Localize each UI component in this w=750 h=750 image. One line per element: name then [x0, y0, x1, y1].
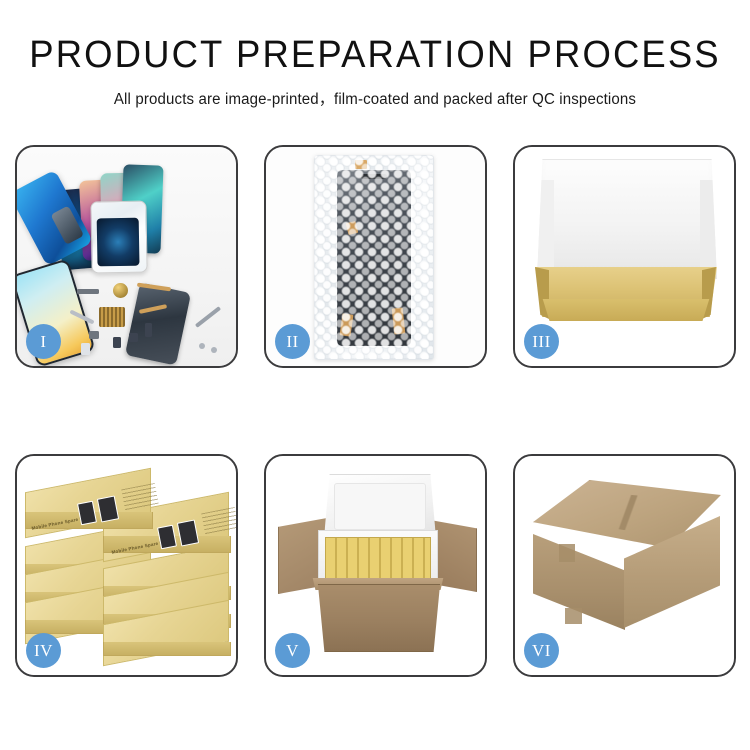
part-sim-tray — [81, 343, 90, 355]
step-2-image: II — [266, 147, 485, 366]
part-square-1 — [129, 333, 138, 342]
tempered-glass-screen — [90, 201, 147, 274]
foam-lid — [324, 474, 436, 538]
ic-chip-grid — [99, 307, 125, 327]
step-badge-2: II — [275, 324, 310, 359]
tape-piece-top — [355, 160, 367, 169]
step-4-image: Mobile Phone Spare Parts Mobile Phone Sp… — [17, 456, 236, 675]
step-3-image: III — [515, 147, 734, 366]
process-grid: I II — [15, 145, 738, 677]
page-subtitle: All products are image-printed，film-coat… — [11, 87, 739, 109]
process-step-6: VI — [513, 454, 736, 677]
box-front-panel — [541, 299, 711, 321]
bubble-wrap-pack — [314, 155, 434, 360]
page-title: PRODUCT PREPARATION PROCESS — [15, 36, 735, 74]
stacked-box-top: Mobile Phone Spare Parts — [25, 480, 151, 526]
step-badge-3: III — [524, 324, 559, 359]
part-square-2 — [113, 337, 121, 348]
process-step-5: V — [264, 454, 487, 677]
process-step-2: II — [264, 145, 487, 368]
box-stack: Mobile Phone Spare Parts Mobile Phone Sp… — [25, 474, 231, 664]
process-step-3: III — [513, 145, 736, 368]
phone-rear-housing — [125, 282, 191, 365]
step-5-image: V — [266, 456, 485, 675]
speaker-part — [113, 283, 128, 298]
process-step-1: I — [15, 145, 238, 368]
screw-1 — [199, 343, 205, 349]
carton-tape-lower — [565, 608, 582, 624]
box-lid-white — [537, 159, 717, 279]
infographic-page: PRODUCT PREPARATION PROCESS All products… — [0, 0, 750, 750]
yellow-boxes-inside — [325, 537, 431, 583]
header: PRODUCT PREPARATION PROCESS All products… — [0, 0, 750, 109]
carton-tape-upper — [559, 544, 575, 562]
process-step-4: Mobile Phone Spare Parts Mobile Phone Sp… — [15, 454, 238, 677]
step-6-image: VI — [515, 456, 734, 675]
step-badge-5: V — [275, 633, 310, 668]
carton-front-panel — [314, 584, 444, 652]
part-square-4 — [89, 331, 99, 339]
screw-2 — [211, 347, 217, 353]
step-badge-4: IV — [26, 633, 61, 668]
step-1-image: I — [17, 147, 236, 366]
tool-tweezers — [195, 306, 221, 328]
step-badge-1: I — [26, 324, 61, 359]
part-square-3 — [145, 323, 152, 337]
step-badge-6: VI — [524, 633, 559, 668]
stacked-box-r3 — [103, 612, 229, 654]
part-strip-1 — [77, 289, 99, 294]
